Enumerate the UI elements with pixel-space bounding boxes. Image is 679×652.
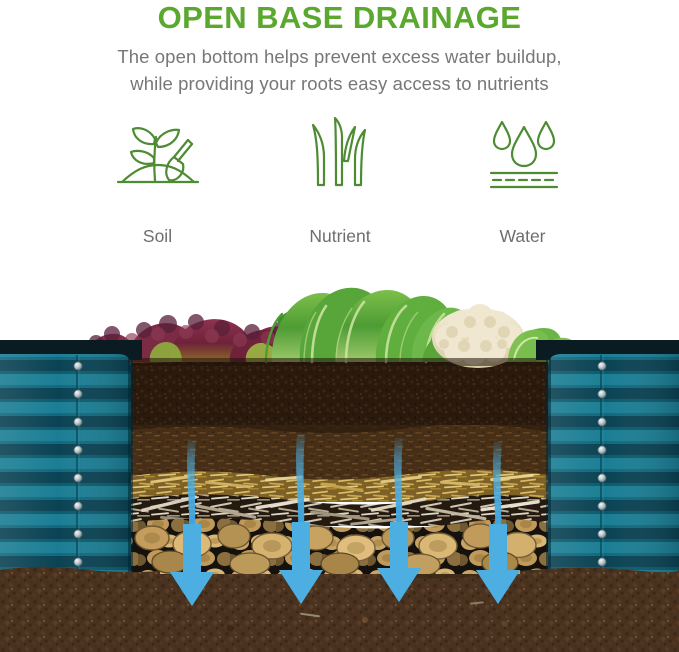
page-title: OPEN BASE DRAINAGE — [0, 0, 679, 35]
cross-section-svg — [0, 262, 679, 652]
page-subtitle: The open bottom helps prevent excess wat… — [40, 43, 640, 97]
raised-bed-cross-section-illustration — [0, 262, 679, 652]
feature-icon-wrapper — [116, 117, 200, 189]
header: OPEN BASE DRAINAGE The open bottom helps… — [0, 0, 679, 97]
feature-label-line-1: Water — [499, 224, 545, 248]
dark-topsoil-layer — [131, 362, 548, 428]
corrugated-metal-panel-left — [0, 354, 133, 574]
plant-with-trowel-icon — [116, 117, 200, 189]
grass-blades-icon — [305, 117, 375, 189]
feature-label-line-1: Nutrient — [309, 224, 370, 248]
corrugated-metal-panel-right — [546, 354, 679, 574]
feature-icon-wrapper — [305, 117, 375, 189]
subtitle-line-1: The open bottom helps prevent excess wat… — [40, 43, 640, 70]
feature-label-line-1: Soil — [131, 224, 184, 248]
subtitle-line-2: while providing your roots easy access t… — [40, 70, 640, 97]
water-droplets-icon — [483, 117, 563, 189]
feature-icon-wrapper — [483, 117, 563, 189]
infographic-page: { "header": { "title": "OPEN BASE DRAINA… — [0, 0, 679, 652]
